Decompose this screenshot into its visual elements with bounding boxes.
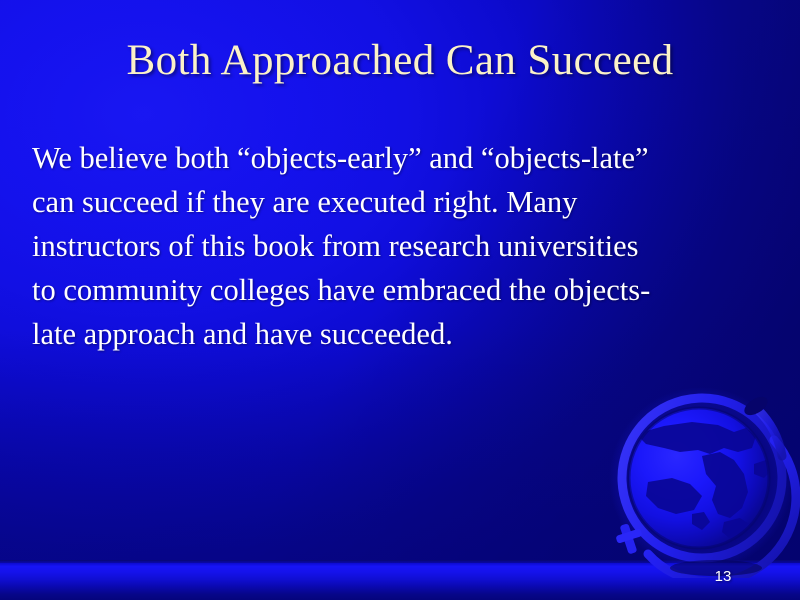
globe-icon <box>606 382 800 578</box>
slide-title: Both Approached Can Succeed <box>0 36 800 86</box>
body-line: late approach and have succeeded. <box>32 312 758 356</box>
page-number: 13 <box>706 568 740 586</box>
slide-body: We believe both “objects-early” and “obj… <box>32 136 758 356</box>
slide-canvas: Both Approached Can Succeed We believe b… <box>0 0 800 600</box>
body-line: to community colleges have embraced the … <box>32 268 758 312</box>
body-line: We believe both “objects-early” and “obj… <box>32 136 758 180</box>
body-line: can succeed if they are executed right. … <box>32 180 758 224</box>
body-line: instructors of this book from research u… <box>32 224 758 268</box>
globe-graphic <box>606 382 800 578</box>
